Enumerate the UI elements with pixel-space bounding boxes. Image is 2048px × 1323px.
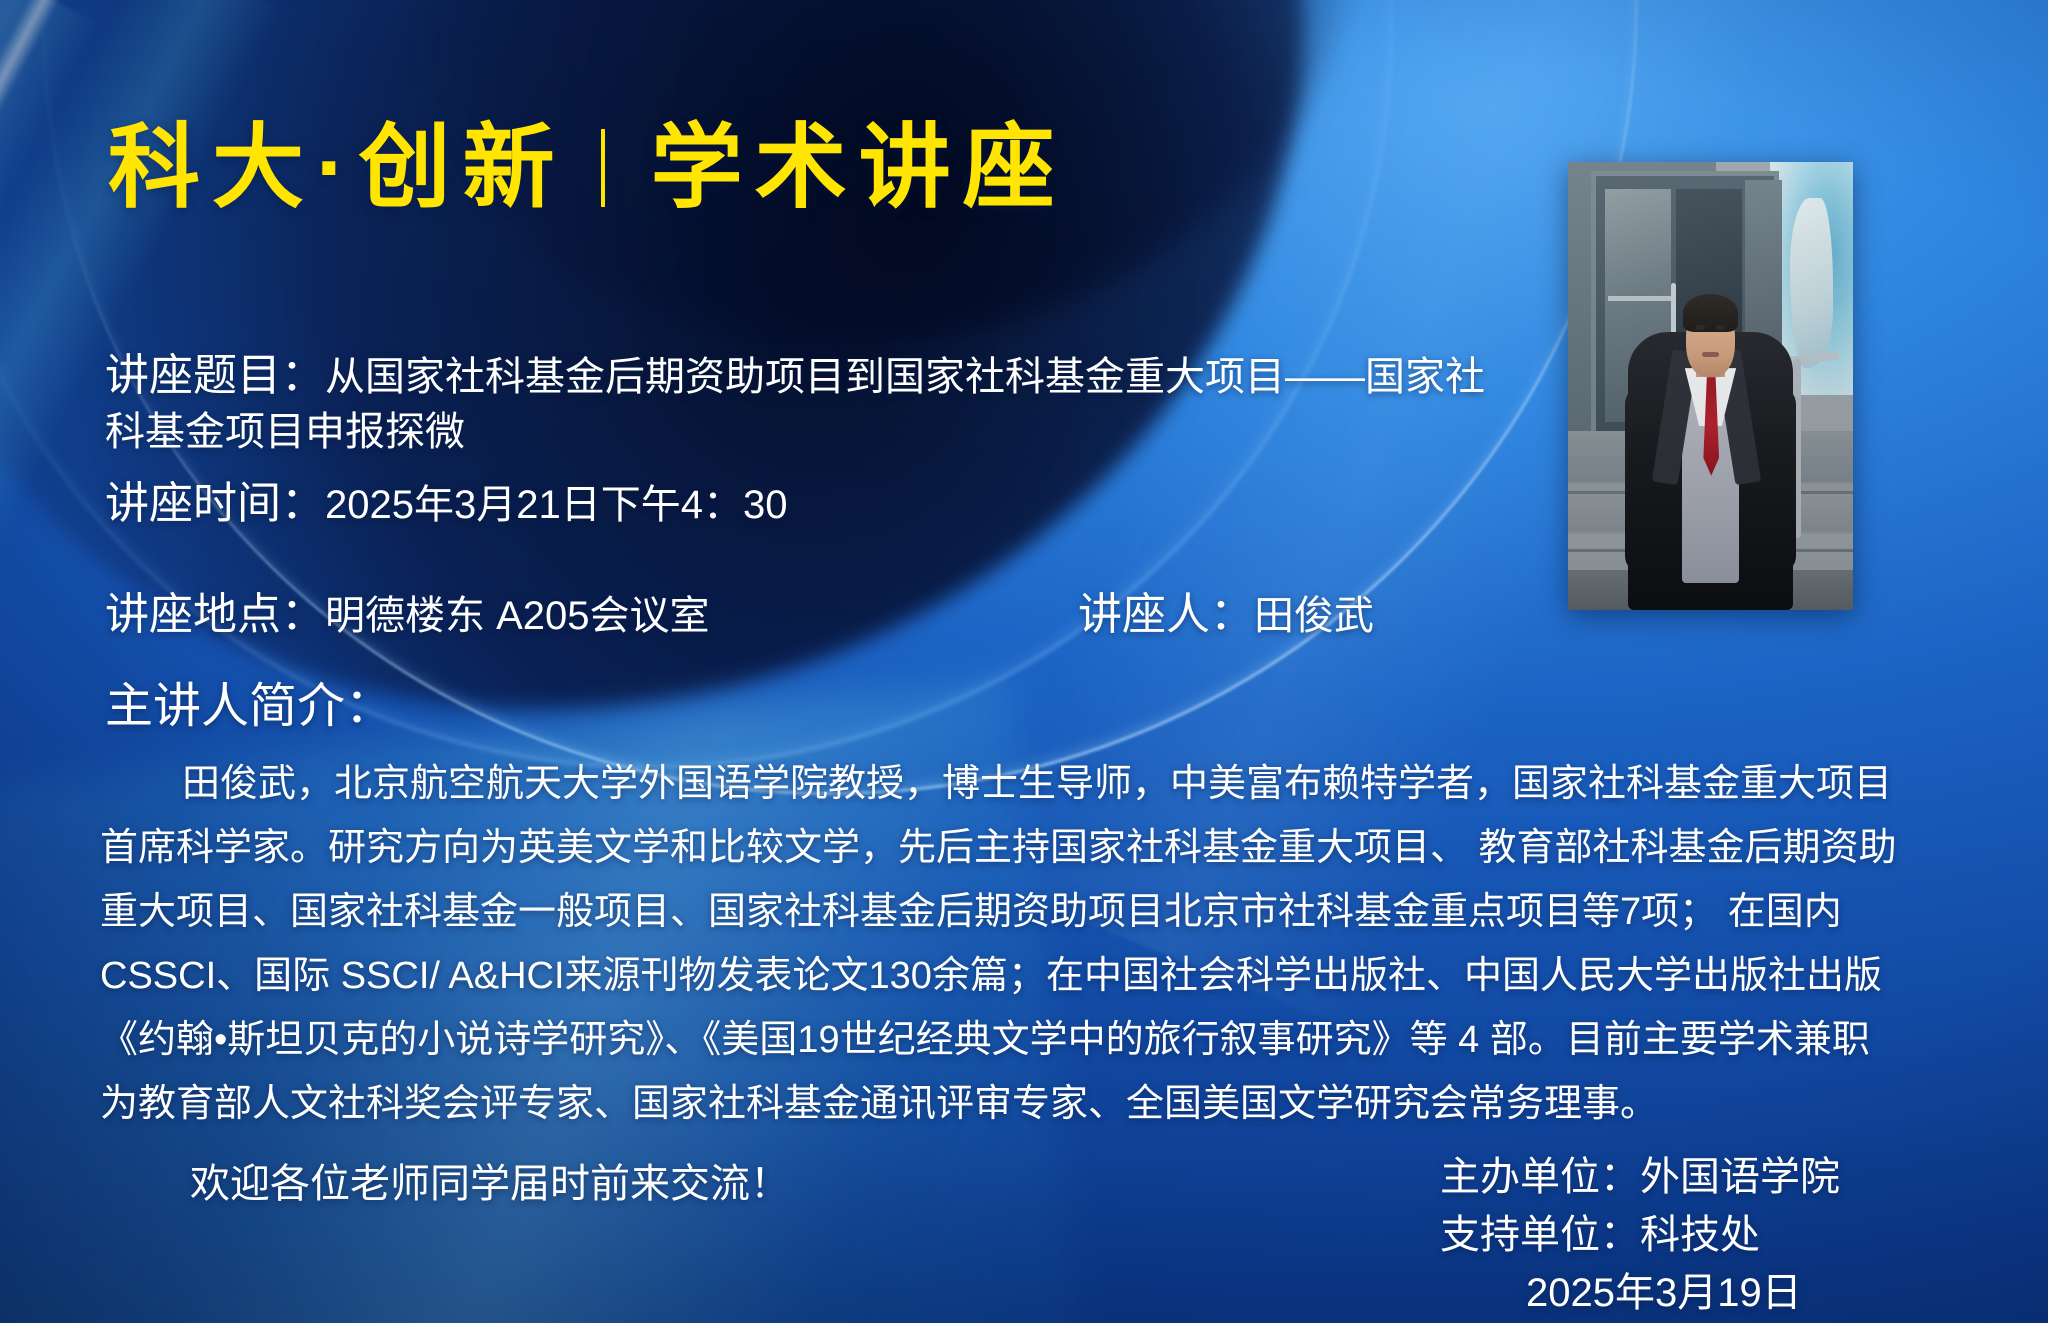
speaker-bio-body: 田俊武，北京航空航天大学外国语学院教授，博士生导师，中美富布赖特学者，国家社科基…	[100, 752, 1940, 1136]
lecture-place-label: 讲座地点：	[105, 590, 325, 639]
bio-line: 首席科学家。研究方向为英美文学和比较文学，先后主持国家社科基金重大项目、 教育部…	[100, 816, 1940, 880]
photo-tone-overlay	[1568, 162, 1853, 610]
speaker-portrait-photo	[1568, 162, 1853, 610]
lecture-time-label: 讲座时间：	[105, 479, 325, 528]
lecture-time: 讲座时间：2025年3月21日下午4：30	[105, 467, 787, 531]
lecture-poster: 科大·创新 学术讲座 讲座题目：从国家社科基金后期资助项目到国家社科基金重大项目…	[0, 0, 2048, 1323]
footer-date: 2025年3月19日	[1440, 1264, 1840, 1322]
lecture-time-value: 2025年3月21日下午4：30	[325, 483, 787, 527]
lecture-place-value: 明德楼东 A205会议室	[325, 594, 710, 638]
bio-line: 《约翰•斯坦贝克的小说诗学研究》、《美国19世纪经典文学中的旅行叙事研究》等 4…	[100, 1008, 1940, 1072]
lecture-place: 讲座地点：明德楼东 A205会议室	[105, 578, 710, 642]
bio-line: CSSCI、国际 SSCI/ A&HCI来源刊物发表论文130余篇；在中国社会科…	[100, 944, 1940, 1008]
footer-organizer: 主办单位：外国语学院	[1440, 1148, 1840, 1206]
poster-footer: 主办单位：外国语学院 支持单位：科技处 2025年3月19日	[1440, 1148, 1840, 1322]
bio-line: 重大项目、国家社科基金一般项目、国家社科基金后期资助项目北京市社科基金重点项目等…	[100, 880, 1940, 944]
footer-supporter: 支持单位：科技处	[1440, 1206, 1840, 1264]
header-title-divider	[601, 129, 605, 207]
header-title-primary: 科大·创新	[108, 122, 567, 214]
welcome-message: 欢迎各位老师同学届时前来交流！	[190, 1151, 790, 1209]
lecture-topic-label: 讲座题目：	[105, 351, 325, 400]
lecture-speaker-label: 讲座人：	[1078, 590, 1254, 639]
header-title-secondary: 学术讲座	[651, 122, 1067, 214]
lecture-speaker-value: 田俊武	[1254, 594, 1374, 638]
lecture-speaker: 讲座人：田俊武	[1078, 578, 1374, 642]
bio-line: 为教育部人文社科奖会评专家、国家社科基金通讯评审专家、全国美国文学研究会常务理事…	[100, 1072, 1940, 1136]
speaker-bio-heading: 主讲人简介：	[105, 666, 393, 736]
lecture-topic: 讲座题目：从国家社科基金后期资助项目到国家社科基金重大项目——国家社科基金项目申…	[105, 348, 1505, 459]
bio-line: 田俊武，北京航空航天大学外国语学院教授，博士生导师，中美富布赖特学者，国家社科基…	[100, 752, 1940, 816]
poster-header-title: 科大·创新 学术讲座	[108, 122, 1067, 214]
